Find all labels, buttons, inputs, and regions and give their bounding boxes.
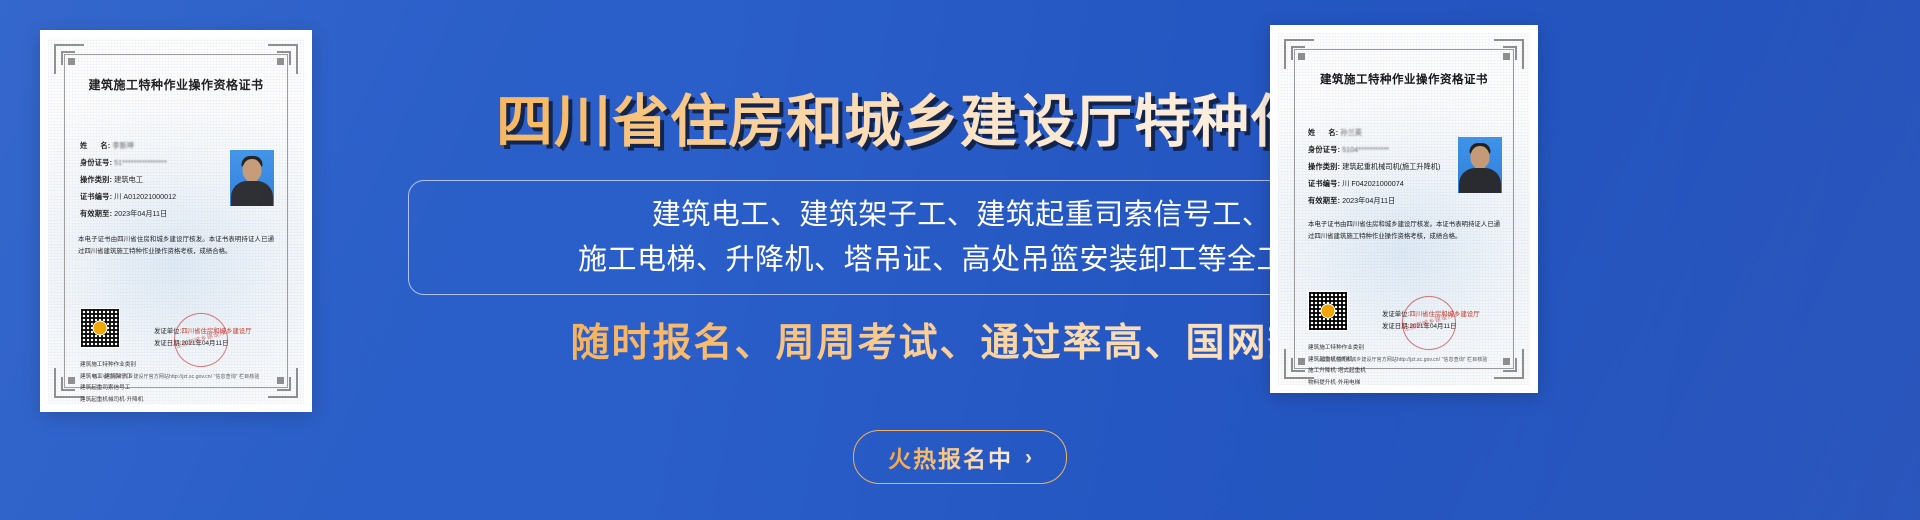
field-value: 川 F042021000074 [1342, 180, 1404, 188]
field-row: 身份证号:5104*********** [1308, 146, 1440, 154]
field-key: 姓 [80, 142, 87, 150]
cta-container: 火热报名中 › [360, 430, 1560, 484]
course-list-line: 施工电梯、升降机、塔吊证、高处吊篮安装卸工等全工种； [578, 238, 1345, 283]
enroll-button-label: 火热报名中 [888, 440, 1013, 474]
qr-center-emblem [1321, 304, 1336, 319]
field-value: 孙兰英 [1340, 129, 1362, 137]
field-row: 操作类别:建筑起重机械司机(施工升降机) [1308, 163, 1440, 171]
legend-line: 建筑施工特种作业类别 [1308, 343, 1366, 355]
portrait-body [231, 181, 273, 206]
certificate-portrait-photo [1458, 137, 1502, 193]
field-value: 李新坤 [112, 142, 134, 150]
field-row: 身份证号:51**************** [80, 159, 176, 167]
field-sep: : [1338, 180, 1341, 188]
field-value: 建筑电工 [114, 176, 143, 184]
field-row: 证书编号:川 A012021000012 [80, 193, 176, 201]
field-value: 建筑起重机械司机(施工升降机) [1342, 163, 1440, 171]
ornament-corner-icon [1494, 349, 1524, 379]
field-key: 操作类别 [1308, 163, 1338, 171]
certificate-footnote: 四川省住房和城乡建设厅官方网站http://jzt.sc.gov.cn/ “信息… [1302, 356, 1506, 363]
field-row: 证书编号:川 F042021000074 [1308, 180, 1440, 188]
field-sep: : [1338, 197, 1341, 205]
ornament-corner-icon [1494, 39, 1524, 69]
field-key-2: 名 [100, 142, 107, 150]
certificate-title: 建筑施工特种作业操作资格证书 [48, 76, 304, 93]
field-value: 51**************** [114, 159, 167, 167]
field-key: 有效期至 [1308, 197, 1338, 205]
field-sep: : [110, 159, 113, 167]
field-key: 操作类别 [80, 176, 110, 184]
field-key: 身份证号 [80, 159, 110, 167]
certificate-legend: 建筑施工特种作业类别 建筑电工·建筑架子工 建筑起重司索信号工 建筑起重机械司机… [80, 360, 143, 407]
field-value: 2023年04月11日 [1342, 197, 1395, 205]
field-sep: : [110, 210, 113, 218]
legend-line: 建筑起重司索信号工 [80, 383, 143, 395]
certificate-fields: 姓名:李新坤 身份证号:51**************** 操作类别:建筑电工… [80, 142, 176, 227]
certificate-legend: 建筑施工特种作业类别 建筑起重机械司机 施工升降机·塔式起重机 物料提升机·外用… [1308, 343, 1366, 390]
certificate-body-text: 本电子证书由四川省住房和城乡建设厅核发。本证书表明持证人已通过四川省建筑施工特种… [78, 234, 274, 258]
legend-line: 建筑施工特种作业类别 [80, 360, 143, 372]
certificate-footnote: 四川省住房和城乡建设厅官方网站http://jzt.sc.gov.cn/ “信息… [72, 373, 280, 380]
field-sep: : [110, 193, 113, 201]
field-row: 有效期至:2023年04月11日 [1308, 197, 1440, 205]
field-sep: : [108, 142, 111, 150]
certificate-portrait-photo [230, 150, 274, 206]
certificate-card-right: 建筑施工特种作业操作资格证书 姓名:孙兰英 身份证号:5104*********… [1270, 25, 1538, 393]
qr-center-emblem [93, 321, 108, 336]
certificate-paper: 建筑施工特种作业操作资格证书 姓名:李新坤 身份证号:51***********… [48, 38, 304, 404]
field-key-2: 名 [1328, 129, 1335, 137]
portrait-body [1459, 168, 1501, 193]
certificate-paper: 建筑施工特种作业操作资格证书 姓名:孙兰英 身份证号:5104*********… [1278, 33, 1530, 385]
field-sep: : [1338, 146, 1341, 154]
certificate-card-left: 建筑施工特种作业操作资格证书 姓名:李新坤 身份证号:51***********… [40, 30, 312, 412]
field-key: 有效期至 [80, 210, 110, 218]
course-list-line: 建筑电工、建筑架子工、建筑起重司索信号工、 [652, 193, 1272, 238]
certificate-body-text: 本电子证书由四川省住房和城乡建设厅核发。本证书表明持证人已通过四川省建筑施工特种… [1308, 219, 1500, 243]
field-value: 2023年04月11日 [114, 210, 167, 218]
qr-code-icon [1308, 291, 1348, 331]
field-value: 川 A012021000012 [114, 193, 176, 201]
certificate-title: 建筑施工特种作业操作资格证书 [1278, 71, 1530, 87]
ornament-corner-icon [1284, 39, 1314, 69]
field-row: 姓名:孙兰英 [1308, 129, 1440, 137]
legend-line: 建筑起重机械司机·升降机 [80, 395, 143, 407]
field-row: 操作类别:建筑电工 [80, 176, 176, 184]
qr-code-icon [80, 308, 120, 348]
field-value: 5104*********** [1342, 146, 1389, 154]
ornament-corner-icon [268, 44, 298, 74]
field-sep: : [1338, 163, 1341, 171]
certificate-fields: 姓名:孙兰英 身份证号:5104*********** 操作类别:建筑起重机械司… [1308, 129, 1440, 214]
field-row: 有效期至:2023年04月11日 [80, 210, 176, 218]
legend-line: 物料提升机·外用电梯 [1308, 378, 1366, 390]
legend-line: 施工升降机·塔式起重机 [1308, 366, 1366, 378]
field-row: 姓名:李新坤 [80, 142, 176, 150]
field-key: 身份证号 [1308, 146, 1338, 154]
ornament-corner-icon [54, 44, 84, 74]
field-key: 证书编号 [1308, 180, 1338, 188]
promo-banner: 建筑施工特种作业操作资格证书 姓名:李新坤 身份证号:51***********… [0, 0, 1920, 520]
field-key: 姓 [1308, 129, 1315, 137]
field-sep: : [110, 176, 113, 184]
field-key: 证书编号 [80, 193, 110, 201]
enroll-button[interactable]: 火热报名中 › [853, 430, 1067, 484]
field-sep: : [1336, 129, 1339, 137]
chevron-right-icon: › [1025, 447, 1032, 468]
